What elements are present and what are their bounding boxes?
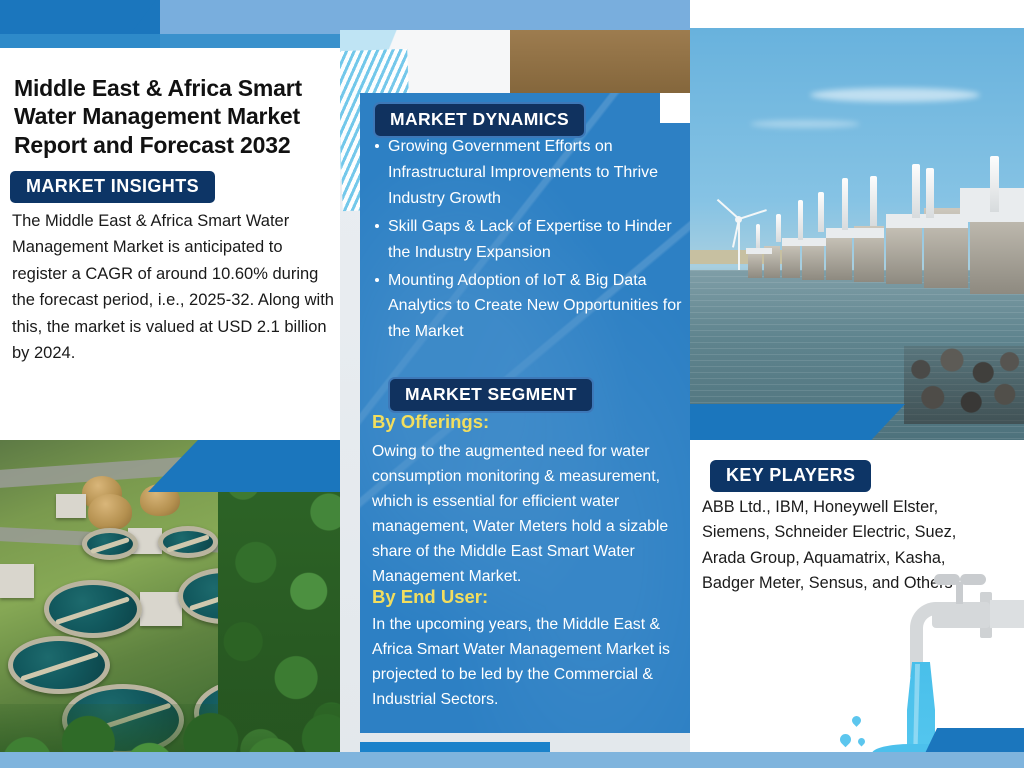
faucet-part: [956, 582, 963, 604]
faucet-part: [990, 600, 1024, 628]
photo-detail: [826, 228, 884, 238]
photo-detail: [912, 164, 920, 218]
photo-detail: [717, 199, 741, 221]
photo-detail: [746, 248, 772, 254]
photo-detail: [782, 238, 826, 246]
photo-detail: [82, 528, 138, 560]
photo-detail: [842, 178, 848, 230]
photo-detail: [810, 88, 980, 102]
photo-detail: [158, 526, 218, 558]
faucet-handle-icon: [960, 574, 986, 585]
bottom-strip: [0, 752, 1024, 768]
market-dynamics-list: Growing Government Efforts on Infrastruc…: [370, 134, 684, 347]
list-item: Skill Gaps & Lack of Expertise to Hinder…: [388, 214, 684, 266]
photo-detail: [88, 494, 132, 530]
photo-detail: [798, 200, 803, 240]
photo-detail: [0, 564, 34, 598]
panel-corner-notch: [660, 93, 690, 123]
photo-detail: [8, 636, 110, 694]
market-segment-badge: MARKET SEGMENT: [388, 377, 594, 413]
photo-detail: [782, 242, 800, 278]
faucet-handle-icon: [934, 574, 960, 585]
photo-detail: [904, 346, 1024, 424]
market-dynamics-badge: MARKET DYNAMICS: [373, 102, 586, 138]
list-item: Growing Government Efforts on Infrastruc…: [388, 134, 684, 212]
segment-heading-end-user: By End User:: [372, 586, 672, 608]
left-photo-blue-wedge: [148, 440, 340, 492]
wastewater-treatment-plant-photo: [0, 440, 340, 768]
photo-detail: [56, 494, 86, 518]
photo-detail: [748, 250, 762, 278]
photo-detail: [756, 224, 760, 248]
photo-detail: [870, 176, 877, 226]
photo-detail: [738, 209, 767, 220]
dam-barrier-photo: [690, 28, 1024, 440]
market-insights-body: The Middle East & Africa Smart Water Man…: [12, 208, 342, 366]
market-insights-badge: MARKET INSIGHTS: [10, 171, 215, 203]
key-players-badge: KEY PLAYERS: [710, 460, 871, 492]
photo-detail: [750, 120, 860, 128]
left-column: Middle East & Africa Smart Water Managem…: [0, 48, 340, 768]
photo-detail: [818, 192, 824, 232]
photo-detail: [826, 232, 852, 280]
segment-body-end-user: In the upcoming years, the Middle East &…: [372, 613, 684, 713]
photo-detail: [140, 592, 182, 626]
list-item: Mounting Adoption of IoT & Big Data Anal…: [388, 268, 684, 346]
segment-heading-offerings: By Offerings:: [372, 411, 672, 433]
right-photo-blue-wedge: [690, 404, 905, 440]
photo-detail: [990, 156, 999, 212]
photo-detail: [44, 580, 142, 638]
page-title: Middle East & Africa Smart Water Managem…: [14, 74, 326, 159]
segment-body-offerings: Owing to the augmented need for water co…: [372, 440, 684, 590]
infographic-canvas: Middle East & Africa Smart Water Managem…: [0, 0, 1024, 768]
photo-detail: [776, 214, 781, 242]
photo-detail: [926, 168, 934, 218]
